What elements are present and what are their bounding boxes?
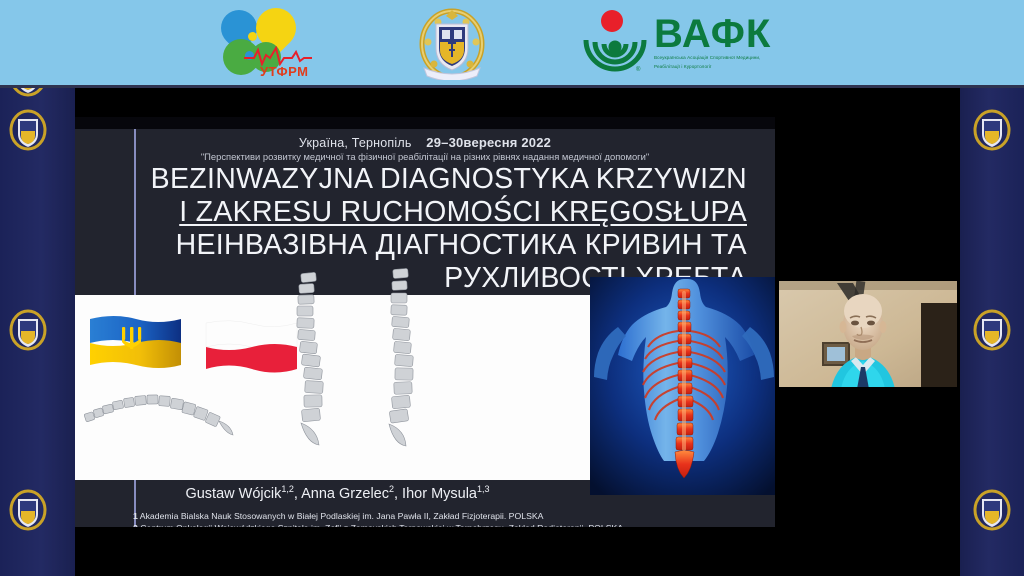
left-watermark-panel	[0, 88, 75, 576]
right-watermark-panel	[960, 88, 1024, 576]
affiliations-block: 1 Akademia Bialska Nauk Stosowanych w Bi…	[133, 511, 623, 527]
vafk-mark-icon: ®	[582, 10, 648, 76]
slide-title-line-2: I ZAKRESU RUCHOMOŚCI KRĘGOSŁUPA	[75, 196, 775, 229]
spine-photo-vertical-2	[361, 267, 439, 467]
vafk-red-dot-icon	[601, 10, 623, 32]
conference-subtitle: "Перспективи розвитку медичної та фізичн…	[75, 151, 775, 162]
ukraine-flag	[88, 313, 183, 370]
vafk-registered-icon: ®	[636, 67, 640, 73]
spine-photo-lateral	[83, 379, 243, 437]
vafk-subtitle-line1: Всеукраїнська Асоціація Спортивної Медиц…	[654, 55, 771, 62]
slide-title-line-3: НЕІНВАЗІВНА ДІАГНОСТИКА КРИВИН ТА	[75, 229, 775, 262]
ecg-heartbeat-icon	[244, 46, 312, 66]
affiliation-text: Centrum Onkologii Wojewódzkiego Szpitala…	[140, 523, 623, 527]
presentation-stage: Україна, Тернопіль 29–30вересня 2022 "Пе…	[0, 88, 1024, 576]
crest-watermark-icon	[8, 108, 48, 152]
conference-logo-banner: УТФРМ	[0, 0, 1024, 85]
author-1: Gustaw Wójcik	[185, 486, 281, 502]
crest-watermark-icon	[972, 108, 1012, 152]
affiliation-text: Akademia Bialska Nauk Stosowanych w Biał…	[140, 511, 544, 521]
anatomical-torso-image	[590, 277, 775, 495]
shared-slide[interactable]: Україна, Тернопіль 29–30вересня 2022 "Пе…	[75, 117, 775, 527]
slide-title-line-1: BEZINWAZYJNA DIAGNOSTYKA KRZYWIZN	[75, 163, 775, 196]
vafk-wordmark: ВАФК	[654, 15, 771, 53]
utfrm-puzzle-knob-icon	[248, 32, 257, 41]
author-2: , Anna Grzelec	[294, 486, 389, 502]
crest-watermark-icon	[8, 308, 48, 352]
crest-watermark-icon	[972, 308, 1012, 352]
zoom-presentation-screen: УТФРМ	[0, 0, 1024, 576]
affiliation-row: 2 Centrum Onkologii Wojewódzkiego Szpita…	[133, 523, 623, 527]
crest-watermark-icon	[8, 88, 48, 98]
conference-location: Україна, Тернопіль	[299, 136, 412, 150]
affiliation-number: 2	[133, 523, 138, 527]
participant-video-feed	[779, 281, 958, 388]
conference-dates: 29–30вересня 2022	[426, 135, 551, 150]
crest-watermark-icon	[972, 488, 1012, 532]
slide-top-bar	[75, 117, 775, 129]
author-1-affil: 1,2	[281, 484, 294, 494]
crest-watermark-icon	[8, 488, 48, 532]
vafk-text-block: ВАФК Всеукраїнська Асоціація Спортивної …	[654, 15, 771, 70]
utfrm-logo: УТФРМ	[204, 6, 322, 80]
affiliation-number: 1	[133, 511, 138, 521]
vafk-subtitle-line2: Реабілітації і Курортології	[654, 64, 771, 71]
author-3-affil: 1,3	[477, 484, 490, 494]
vafk-logo: ® ВАФК Всеукраїнська Асоціація Спортивно…	[582, 6, 820, 80]
torso-spine-illustration	[590, 277, 775, 495]
conference-header: Україна, Тернопіль 29–30вересня 2022	[75, 135, 775, 150]
author-3: , Ihor Mysula	[394, 486, 477, 502]
participant-video-tile[interactable]	[778, 280, 958, 388]
slide-content: Україна, Тернопіль 29–30вересня 2022 "Пе…	[75, 129, 775, 527]
utfrm-logo-text: УТФРМ	[260, 64, 308, 79]
slide-photo-panel	[75, 295, 600, 480]
university-crest-icon	[418, 6, 486, 80]
affiliation-row: 1 Akademia Bialska Nauk Stosowanych w Bi…	[133, 511, 623, 523]
university-crest-logo	[418, 6, 486, 80]
spine-photo-vertical-1	[271, 271, 349, 467]
authors-line: Gustaw Wójcik1,2, Anna Grzelec2, Ihor My…	[75, 484, 600, 502]
